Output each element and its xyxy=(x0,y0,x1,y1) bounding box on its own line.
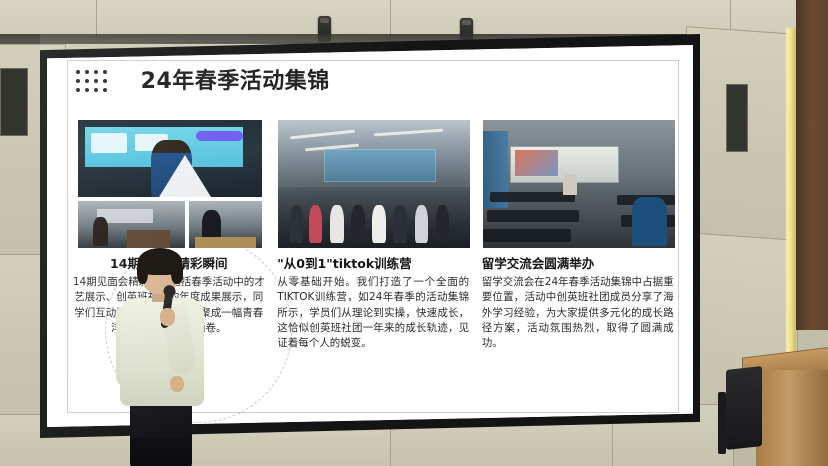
slide-title: 24年春季活动集锦 xyxy=(141,63,330,95)
wall-vent xyxy=(726,84,748,152)
photo-table xyxy=(195,237,256,248)
column-2-heading: "从0到1"tiktok训练营 xyxy=(277,256,469,272)
photo-host-figure xyxy=(93,217,108,245)
photo-ceiling-lamp xyxy=(374,128,443,136)
presenter-person xyxy=(108,248,218,466)
column-3-body: 留学交流会在24年春季活动集锦中占据重要位置，活动中创英班社团成员分享了海外学习… xyxy=(482,275,674,351)
photo-audience-person xyxy=(309,205,322,243)
photo-collage-meetup xyxy=(73,119,265,247)
photo-lecture-hall xyxy=(277,119,471,249)
column-2-body: 从零基础开始。我们打造了一个全面的TIKTOK训练营，如24年春季的活动集锦所示… xyxy=(277,275,469,351)
column-3-heading: 留学交流会圆满举办 xyxy=(482,256,674,272)
classroom-projector-photo xyxy=(482,119,674,247)
photo-desk xyxy=(483,229,571,242)
photo-audience-person xyxy=(290,205,303,243)
audience-photo xyxy=(188,200,263,249)
photo-student-figure xyxy=(632,197,667,246)
photo-podium xyxy=(127,230,170,248)
photo-audience-person xyxy=(330,205,343,243)
photo-ceiling-lamp xyxy=(290,130,355,140)
presenter-legs xyxy=(130,400,192,466)
presenter-hair-side xyxy=(137,258,148,284)
lecture-hall-audience-photo xyxy=(277,119,469,247)
slide-column-3: 留学交流会圆满举办 留学交流会在24年春季活动集锦中占据重要位置，活动中创英班社… xyxy=(482,119,674,411)
dot-grid-icon xyxy=(74,68,108,94)
photo-audience-person xyxy=(415,205,428,243)
photo-audience-person xyxy=(351,205,364,243)
photo-presenter-figure xyxy=(563,174,576,194)
chair-leg xyxy=(718,392,726,454)
host-podium-photo xyxy=(77,200,186,249)
stage-speaker-photo xyxy=(77,119,263,198)
photo-audience-person xyxy=(393,205,406,243)
wall-vent xyxy=(0,68,28,136)
slide-column-2: "从0到1"tiktok训练营 从零基础开始。我们打造了一个全面的TIKTOK训… xyxy=(277,119,469,411)
podium-body xyxy=(756,370,828,466)
wood-wall-column xyxy=(796,0,828,330)
photo-desk xyxy=(487,210,579,222)
photo-classroom xyxy=(482,119,676,249)
presenter-hair-side xyxy=(171,258,183,284)
photo-audience-person xyxy=(372,205,385,243)
photo-audience-person xyxy=(436,205,449,243)
photo-projection xyxy=(515,150,557,176)
dark-chair xyxy=(726,366,762,450)
screenshot-root: 24年春季活动集锦 xyxy=(0,0,828,466)
photo-speech-bubble xyxy=(196,131,244,141)
presenter-hand xyxy=(170,376,184,392)
presenter-hand xyxy=(160,308,175,326)
photo-window-wall xyxy=(324,149,435,182)
photo-letter-a-overlay xyxy=(159,155,211,197)
warm-light-strip xyxy=(786,28,796,381)
photo-desk xyxy=(490,192,574,202)
photo-slide-card xyxy=(91,133,128,153)
